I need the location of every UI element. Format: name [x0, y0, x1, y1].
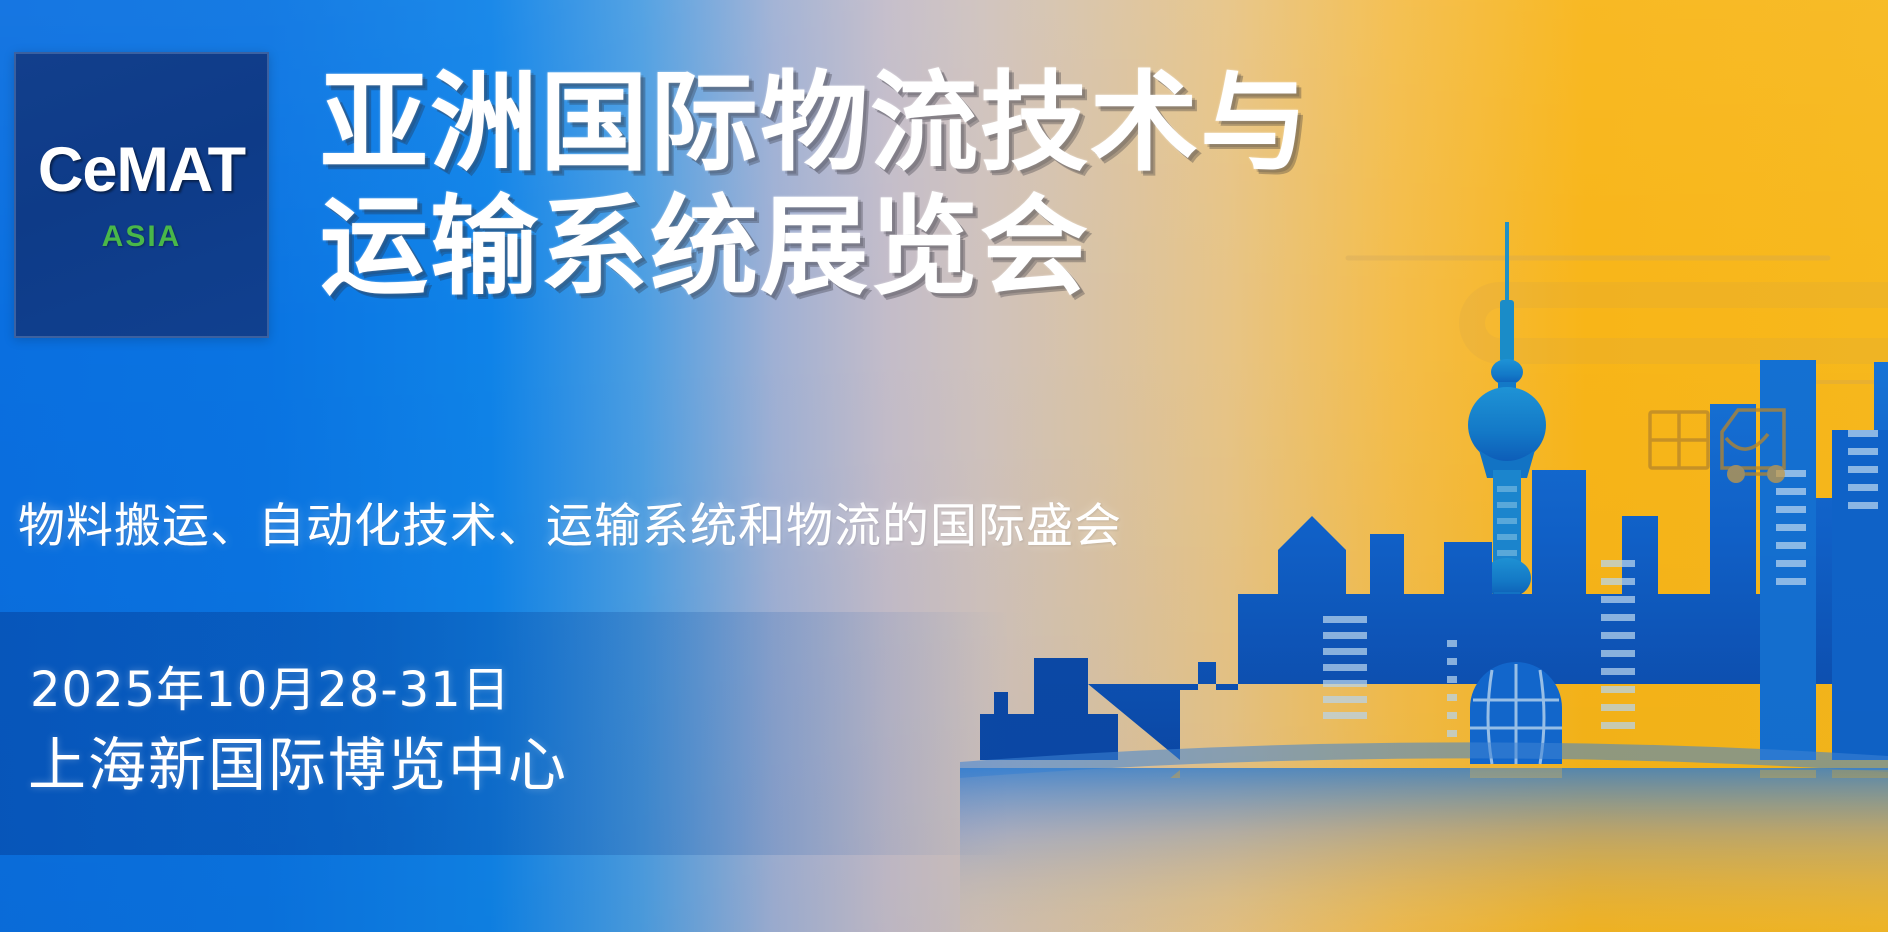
cemat-asia-logo[interactable]: CeMAT ASIA — [14, 52, 269, 338]
building-windows — [1323, 430, 1878, 737]
headline-line-2: 运输系统展览会 — [320, 186, 1310, 310]
logo-region-text: ASIA — [102, 222, 182, 252]
logo-brand-text: CeMAT — [38, 139, 245, 202]
globe-building-icon — [1470, 662, 1562, 764]
skyline-reflection — [1088, 766, 1888, 932]
cemat-asia-banner: CeMAT ASIA 亚洲国际物流技术与 运输系统展览会 物料搬运、自动化技术、… — [0, 0, 1888, 932]
pallet-icon — [1650, 412, 1708, 468]
conveyor-path-icon — [1348, 258, 1888, 382]
forklift-icon — [1722, 410, 1785, 483]
headline: 亚洲国际物流技术与 运输系统展览会 — [320, 62, 1310, 310]
headline-line-1: 亚洲国际物流技术与 — [320, 61, 1310, 186]
event-date: 2025年10月28-31日 — [30, 650, 511, 720]
subtitle: 物料搬运、自动化技术、运输系统和物流的国际盛会 — [18, 487, 1122, 556]
oriental-pearl-tower-icon — [1468, 222, 1546, 676]
event-venue: 上海新国际博览中心 — [28, 718, 568, 802]
